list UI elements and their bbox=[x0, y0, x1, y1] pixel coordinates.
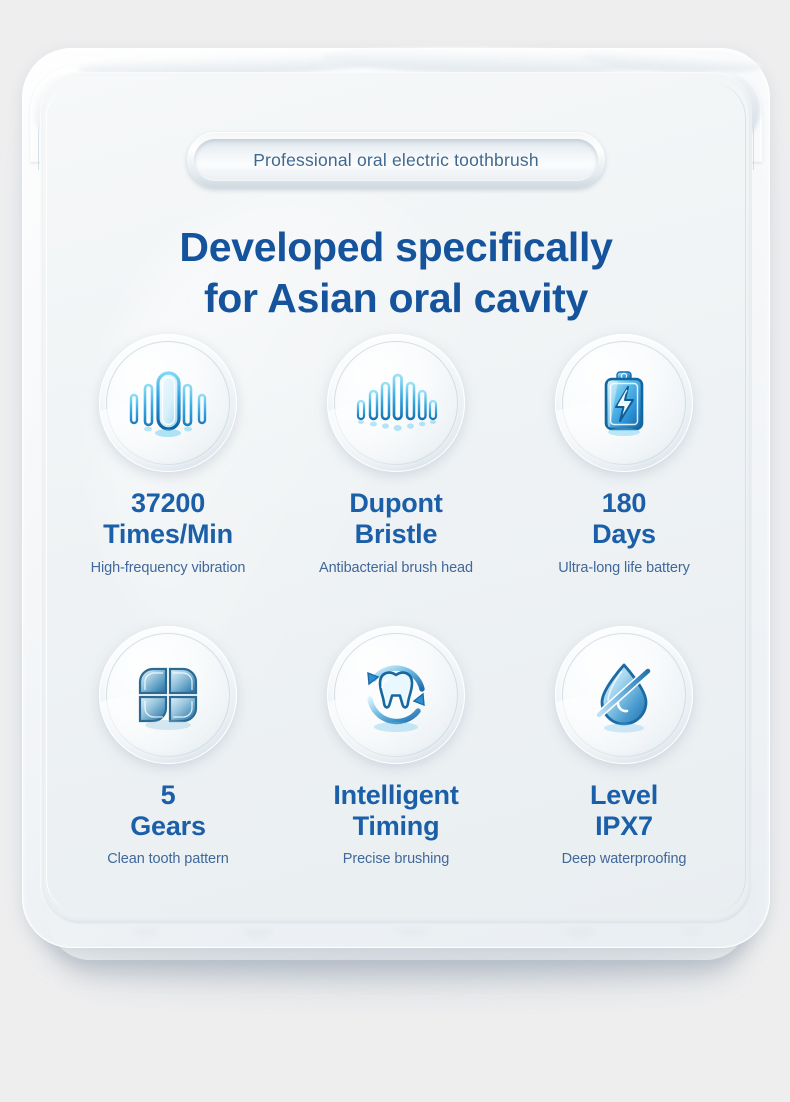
feature-title-line-2: Times/Min bbox=[103, 519, 233, 550]
feature-title: 5 Gears bbox=[130, 780, 206, 843]
feature-caption: Precise brushing bbox=[343, 851, 449, 867]
tooth-timer-cycle-icon bbox=[350, 649, 442, 741]
feature-title: 37200 Times/Min bbox=[103, 488, 233, 551]
feature-icon-plate bbox=[99, 334, 237, 472]
feature-item: Intelligent Timing Precise brushing bbox=[282, 626, 510, 868]
feature-title-line-1: 180 bbox=[592, 488, 656, 519]
feature-caption: Deep waterproofing bbox=[562, 851, 687, 867]
feature-title-line-1: Intelligent bbox=[333, 780, 458, 811]
feature-title-line-2: Bristle bbox=[349, 519, 442, 550]
feature-title: Level IPX7 bbox=[590, 780, 658, 843]
page-title: Developed specifically for Asian oral ca… bbox=[40, 222, 752, 324]
feature-icon-plate bbox=[327, 626, 465, 764]
vibration-waves-icon bbox=[122, 357, 214, 449]
feature-title: Dupont Bristle bbox=[349, 488, 442, 551]
feature-title-line-2: IPX7 bbox=[590, 811, 658, 842]
feature-icon-plate bbox=[555, 626, 693, 764]
feature-item: 5 Gears Clean tooth pattern bbox=[54, 626, 282, 868]
feature-icon-plate bbox=[555, 334, 693, 472]
feature-item: Level IPX7 Deep waterproofing bbox=[510, 626, 738, 868]
feature-title-line-2: Gears bbox=[130, 811, 206, 842]
feature-item: Dupont Bristle Antibacterial brush head bbox=[282, 334, 510, 576]
feature-title: Intelligent Timing bbox=[333, 780, 458, 843]
battery-charge-icon bbox=[578, 357, 670, 449]
feature-icon-plate bbox=[99, 626, 237, 764]
page-title-line-1: Developed specifically bbox=[40, 222, 752, 273]
product-category-badge: Professional oral electric toothbrush bbox=[187, 132, 605, 188]
feature-icon-plate bbox=[327, 334, 465, 472]
feature-caption: Clean tooth pattern bbox=[107, 851, 228, 867]
feature-icon-plate-wrap: 180 Days Ultra-long life battery bbox=[510, 334, 738, 576]
feature-caption: Ultra-long life battery bbox=[558, 560, 689, 576]
bristle-bars-icon bbox=[350, 357, 442, 449]
feature-title-line-2: Days bbox=[592, 519, 656, 550]
feature-title-line-1: Dupont bbox=[349, 488, 442, 519]
feature-title-line-1: 5 bbox=[130, 780, 206, 811]
feature-item: 37200 Times/Min High-frequency vibration bbox=[54, 334, 282, 576]
product-category-badge-label: Professional oral electric toothbrush bbox=[253, 150, 539, 171]
four-petal-clover-icon bbox=[122, 649, 214, 741]
infographic-content: Professional oral electric toothbrush De… bbox=[40, 72, 752, 924]
feature-caption: Antibacterial brush head bbox=[319, 560, 473, 576]
feature-caption: High-frequency vibration bbox=[91, 560, 246, 576]
feature-title-line-1: 37200 bbox=[103, 488, 233, 519]
feature-title-line-2: Timing bbox=[333, 811, 458, 842]
waterproof-droplet-slash-icon bbox=[578, 649, 670, 741]
feature-grid: 37200 Times/Min High-frequency vibration bbox=[54, 334, 738, 867]
feature-title: 180 Days bbox=[592, 488, 656, 551]
feature-title-line-1: Level bbox=[590, 780, 658, 811]
page-title-line-2: for Asian oral cavity bbox=[40, 273, 752, 324]
